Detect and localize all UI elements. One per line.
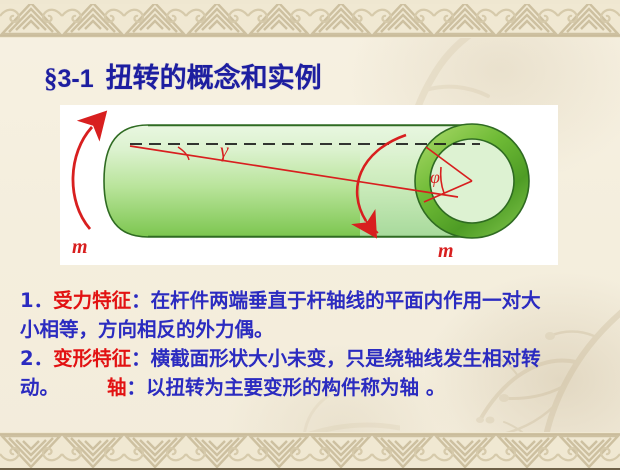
page-title: §3-1扭转的概念和实例: [44, 56, 322, 95]
torsion-shaft-diagram: γ φ m m: [60, 105, 558, 265]
content-item-1-cont: 小相等，方向相反的外力偶。: [20, 315, 610, 344]
greek-key-triangle-ornament: [0, 0, 620, 38]
item-1-line2: 小相等，方向相反的外力偶。: [20, 318, 274, 341]
title-heading: 扭转的概念和实例: [106, 63, 322, 94]
item-2-colon: ：: [131, 347, 151, 370]
item-2-line2-rest: 以扭转为主要变形的构件称为轴 。: [146, 376, 445, 399]
item-2-line2-prefix: 动。: [20, 376, 59, 399]
item-1-colon: ：: [131, 289, 151, 312]
section-symbol: §: [44, 63, 58, 93]
item-2-colon2: ：: [127, 376, 147, 399]
item-1-term: 受力特征: [53, 289, 131, 312]
content-item-2-cont: 动。轴：以扭转为主要变形的构件称为轴 。: [20, 373, 610, 402]
content-item-2: 2．变形特征：横截面形状大小未变，只是绕轴线发生相对转: [20, 344, 610, 373]
slide-root: §3-1扭转的概念和实例: [0, 0, 620, 470]
moment-label-right: m: [438, 240, 454, 262]
twist-angle-label: φ: [430, 167, 440, 187]
top-ornament-band: [0, 0, 620, 38]
slide-body-text: 1．受力特征：在杆件两端垂直于杆轴线的平面内作用一对大 小相等，方向相反的外力偶…: [20, 286, 610, 402]
item-2-term2: 轴: [107, 376, 127, 399]
item-2-index: 2．: [20, 347, 53, 370]
bottom-ornament-band: [0, 432, 620, 470]
torsion-shaft-figure: γ φ m m: [60, 105, 558, 265]
shear-angle-label: γ: [220, 138, 229, 162]
moment-label-left: m: [72, 236, 88, 258]
item-1-line1: 在杆件两端垂直于杆轴线的平面内作用一对大: [151, 289, 541, 312]
greek-key-triangle-ornament-bottom: [0, 432, 620, 470]
moment-arrow-left: [73, 127, 92, 229]
section-number: 3-1: [58, 65, 94, 93]
content-item-1: 1．受力特征：在杆件两端垂直于杆轴线的平面内作用一对大: [20, 286, 610, 315]
item-2-term: 变形特征: [53, 347, 131, 370]
item-1-index: 1．: [20, 289, 53, 312]
item-2-line1: 横截面形状大小未变，只是绕轴线发生相对转: [151, 347, 541, 370]
